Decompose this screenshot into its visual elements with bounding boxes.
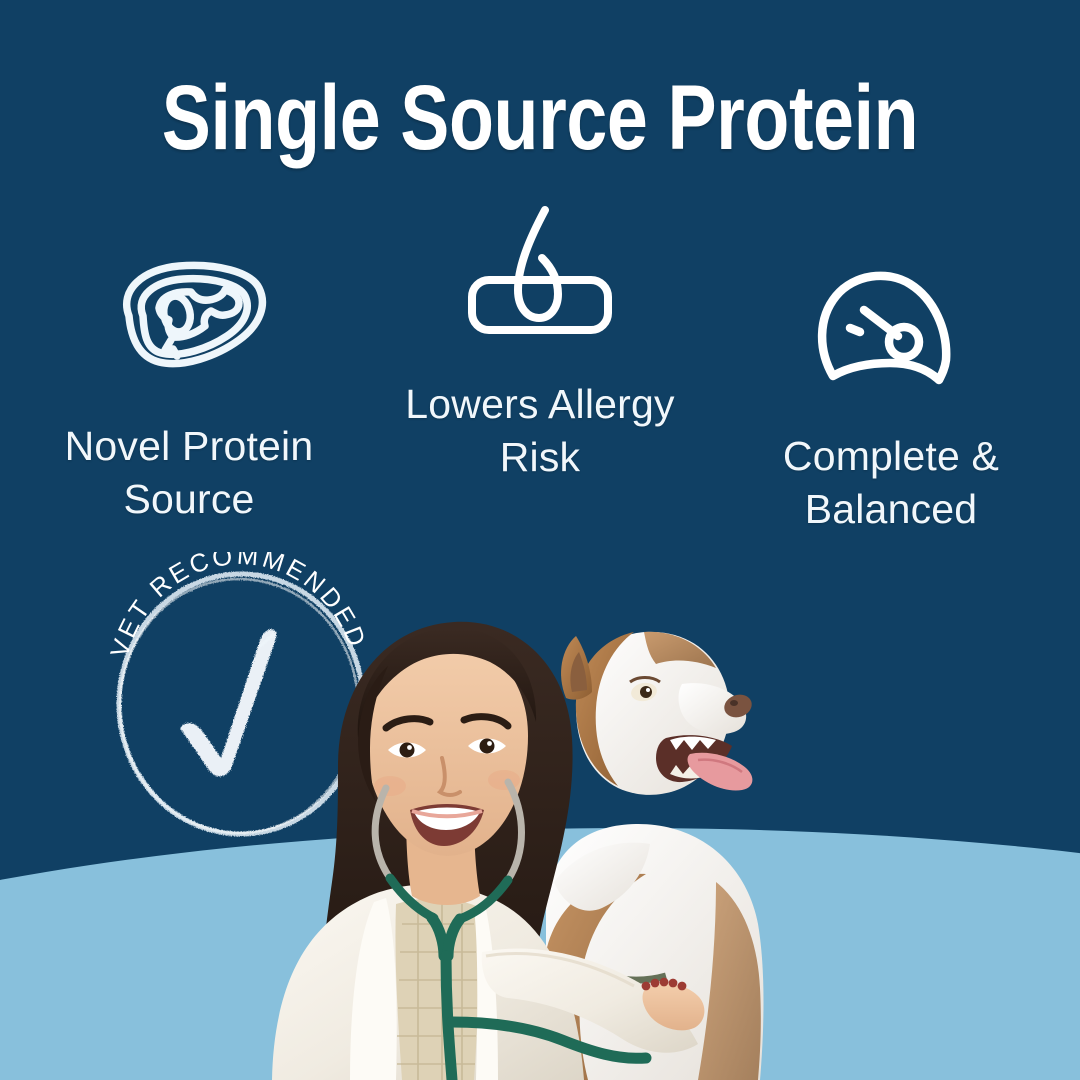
feature-label-line2: Source xyxy=(65,473,314,526)
feature-novel-protein-source: Novel Protein Source xyxy=(24,196,354,527)
feature-label-line1: Complete & xyxy=(783,430,999,483)
gauge-icon xyxy=(806,264,976,394)
feature-label: Lowers Allergy Risk xyxy=(405,378,674,485)
feature-lowers-allergy-risk: Lowers Allergy Risk xyxy=(375,196,705,485)
feature-label-line2: Balanced xyxy=(783,483,999,536)
feature-label-line2: Risk xyxy=(405,431,674,484)
feature-row: Novel Protein Source Lowers Allergy Risk xyxy=(0,196,1080,526)
feature-label-line1: Lowers Allergy xyxy=(405,378,674,431)
feature-label-line1: Novel Protein xyxy=(65,420,314,473)
feature-complete-and-balanced: Complete & Balanced xyxy=(726,196,1056,537)
hair-follicle-icon xyxy=(450,204,630,344)
feature-label: Novel Protein Source xyxy=(65,420,314,527)
page-title: Single Source Protein xyxy=(108,72,972,164)
steak-icon xyxy=(99,254,279,384)
feature-label: Complete & Balanced xyxy=(783,430,999,537)
poster-canvas: Single Source Protein Novel Protein Sour… xyxy=(0,0,1080,1080)
vet-and-dog-photo xyxy=(246,552,806,1080)
